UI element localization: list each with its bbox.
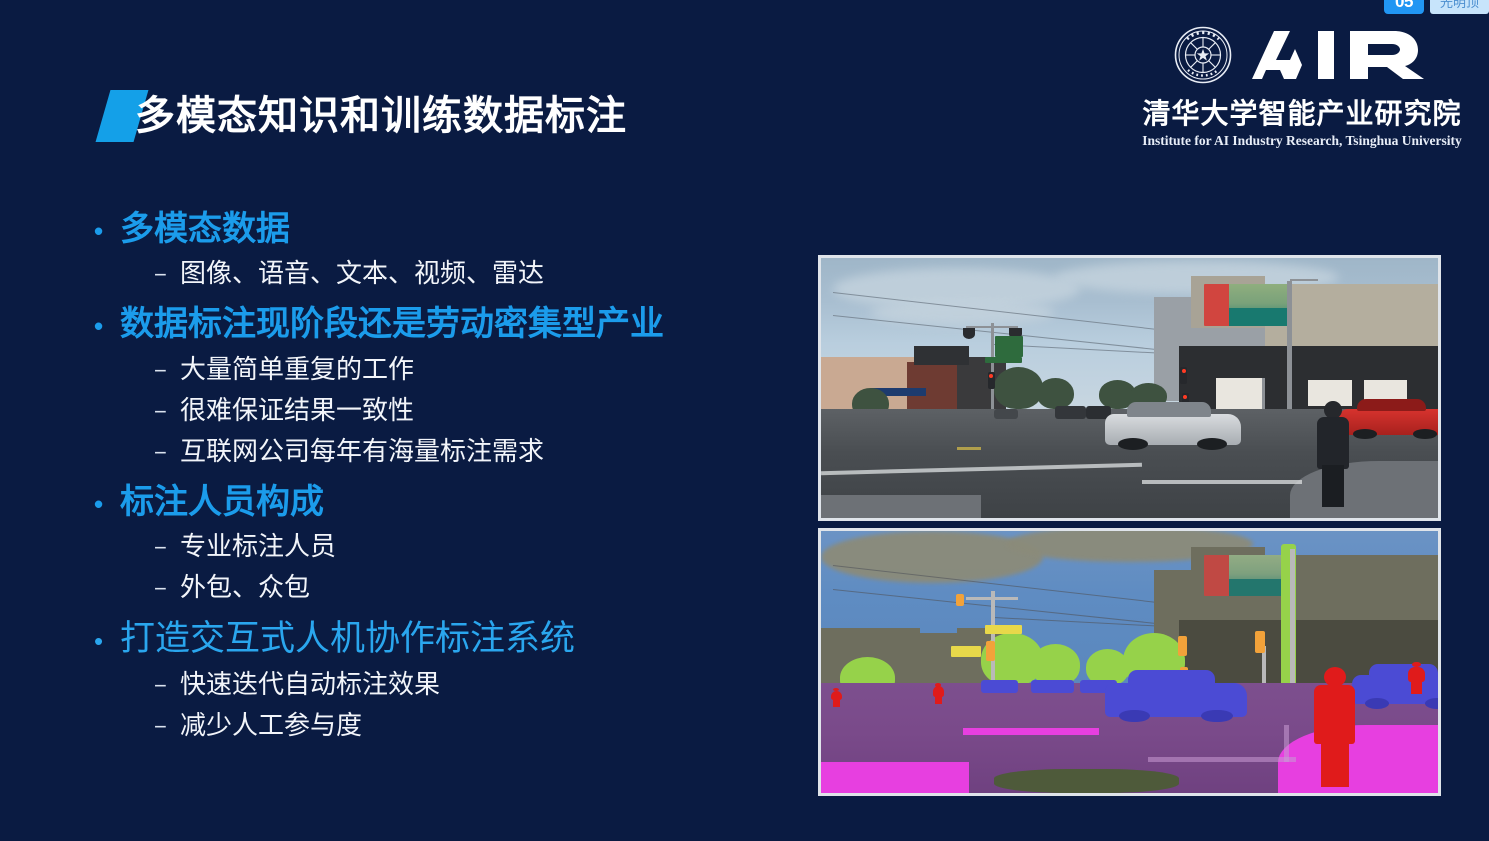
vehicle-main — [1105, 683, 1247, 717]
bullet-subitem: − 专业标注人员 — [154, 526, 794, 567]
car-wheel — [1425, 698, 1441, 709]
sub-marker-icon: − — [154, 710, 180, 745]
bullet-subitem: − 快速迭代自动标注效果 — [154, 664, 794, 705]
bullet-group: • 标注人员构成 − 专业标注人员 − 外包、众包 — [94, 478, 794, 608]
logo-top-row — [1137, 24, 1467, 90]
car-wheel — [1365, 698, 1389, 709]
page-title: 多模态知识和训练数据标注 — [135, 90, 627, 142]
vehicle — [981, 680, 1018, 693]
person-body — [1408, 667, 1424, 683]
person — [932, 683, 944, 704]
car-cabin — [1369, 664, 1438, 677]
pole-arm — [966, 597, 1018, 600]
bullet-group: • 打造交互式人机协作标注系统 − 快速迭代自动标注效果 − 减少人工参与度 — [94, 614, 794, 746]
traffic-light — [956, 594, 964, 606]
bullet-subitem-label: 图像、语音、文本、视频、雷达 — [180, 253, 544, 294]
pedestrian — [1315, 401, 1352, 505]
logo-english-name: Institute for AI Industry Research, Tsin… — [1137, 133, 1467, 149]
bullet-subitem-label: 专业标注人员 — [180, 526, 336, 567]
tsinghua-seal-icon — [1174, 26, 1232, 89]
person-legs — [1321, 740, 1349, 787]
sub-marker-icon: − — [154, 531, 180, 566]
person — [1312, 667, 1358, 785]
car-wheel — [1413, 429, 1437, 439]
lane-marking — [1148, 757, 1296, 762]
window — [1216, 378, 1265, 409]
billboard-left-panel — [1204, 284, 1230, 326]
wall-sign — [914, 346, 970, 364]
car-red — [1339, 409, 1441, 435]
bullet-content: • 多模态数据 − 图像、语音、文本、视频、雷达 • 数据标注现阶段还是劳动密集… — [94, 205, 794, 752]
person-legs — [1411, 681, 1422, 694]
person-legs — [833, 700, 840, 707]
billboard — [1204, 555, 1290, 597]
terrain-patch — [994, 769, 1179, 793]
bullet-heading-label: 数据标注现阶段还是劳动密集型产业 — [120, 300, 664, 348]
tree — [1037, 378, 1074, 409]
street-name-sign — [985, 357, 1022, 364]
bullet-subitem: − 很难保证结果一致性 — [154, 390, 794, 431]
sidewalk-strip — [963, 728, 1099, 736]
traffic-light — [986, 641, 995, 661]
car-wheel — [1201, 710, 1232, 723]
bullet-marker-icon: • — [94, 313, 120, 339]
bullet-heading: • 数据标注现阶段还是劳动密集型产业 — [94, 300, 794, 348]
car-wheel — [1353, 429, 1377, 439]
person — [1407, 662, 1426, 693]
car-silver — [1105, 414, 1241, 445]
pedestrian-legs — [1322, 465, 1344, 507]
scene-raw — [821, 258, 1438, 518]
bullet-heading: • 标注人员构成 — [94, 478, 794, 526]
traffic-light — [1178, 636, 1187, 656]
street-scene-photo — [818, 255, 1441, 521]
distant-car — [1055, 406, 1086, 419]
curb-paint — [957, 447, 982, 450]
bullet-subitem-label: 很难保证结果一致性 — [180, 390, 414, 431]
slide-title-row: 多模态知识和训练数据标注 — [103, 86, 627, 146]
bullet-heading-label: 多模态数据 — [120, 205, 290, 253]
slide-root: 05 光明顶 多模态知识和训练数据标注 — [0, 0, 1489, 841]
bullet-subitem-label: 快速迭代自动标注效果 — [180, 664, 440, 705]
bullet-subitem: − 减少人工参与度 — [154, 705, 794, 746]
bullet-marker-icon: • — [94, 628, 120, 654]
sub-marker-icon: − — [154, 395, 180, 430]
bullet-heading-label: 打造交互式人机协作标注系统 — [120, 614, 575, 664]
vehicle — [1031, 680, 1074, 693]
vegetation — [1031, 644, 1080, 686]
pedestrian-body — [1317, 417, 1350, 469]
car-cabin — [1128, 670, 1216, 686]
car-cabin — [1357, 399, 1426, 411]
scene-segmented — [821, 531, 1438, 793]
billboard-green-panel — [1229, 308, 1289, 325]
bullet-subitem: − 外包、众包 — [154, 567, 794, 608]
bullet-subitem-label: 互联网公司每年有海量标注需求 — [180, 431, 544, 472]
bullet-subitem: − 图像、语音、文本、视频、雷达 — [154, 253, 794, 294]
bullet-heading: • 多模态数据 — [94, 205, 794, 253]
bullet-subitem-label: 外包、众包 — [180, 567, 310, 608]
sub-marker-icon: − — [154, 572, 180, 607]
bullet-marker-icon: • — [94, 218, 120, 244]
sidewalk-left — [821, 495, 981, 518]
street-sign — [995, 336, 1023, 357]
bullet-heading-label: 标注人员构成 — [120, 478, 324, 526]
sub-marker-icon: − — [154, 436, 180, 471]
sidewalk-left — [821, 762, 969, 793]
image-stack — [818, 255, 1441, 796]
segmentation-result-image — [818, 528, 1441, 796]
bullet-group: • 数据标注现阶段还是劳动密集型产业 − 大量简单重复的工作 − 很难保证结果一… — [94, 300, 794, 472]
traffic-light — [1255, 631, 1265, 653]
traffic-light — [1180, 367, 1187, 384]
street-sign — [951, 646, 982, 656]
crosswalk-line — [1142, 480, 1302, 484]
car-cabin — [1127, 402, 1211, 416]
chip-pill-label[interactable]: 光明顶 — [1430, 0, 1489, 14]
person-legs — [935, 696, 942, 704]
sub-marker-icon: − — [154, 354, 180, 389]
top-overlay-chip[interactable]: 05 光明顶 — [1384, 0, 1489, 14]
sub-marker-icon: − — [154, 258, 180, 293]
street-sign — [985, 625, 1022, 634]
sub-marker-icon: − — [154, 669, 180, 704]
air-logo-block: 清华大学智能产业研究院 Institute for AI Industry Re… — [1137, 24, 1467, 149]
pole-arm — [1290, 279, 1318, 281]
billboard — [1204, 284, 1290, 326]
person-body — [1314, 685, 1355, 744]
distant-car — [994, 409, 1019, 419]
person — [830, 688, 842, 706]
air-wordmark — [1246, 27, 1430, 88]
bullet-marker-icon: • — [94, 491, 120, 517]
bullet-subitem-label: 大量简单重复的工作 — [180, 349, 414, 390]
tree — [994, 367, 1043, 409]
lane-marking — [1284, 725, 1289, 762]
bullet-group: • 多模态数据 − 图像、语音、文本、视频、雷达 — [94, 205, 794, 294]
billboard-left-panel — [1204, 555, 1230, 597]
traffic-light — [988, 372, 995, 389]
logo-chinese-name: 清华大学智能产业研究院 — [1137, 92, 1467, 132]
bullet-subitem-label: 减少人工参与度 — [180, 705, 362, 746]
chip-number[interactable]: 05 — [1384, 0, 1424, 14]
bullet-subitem: − 互联网公司每年有海量标注需求 — [154, 431, 794, 472]
vehicle-right — [1352, 675, 1441, 704]
bullet-heading: • 打造交互式人机协作标注系统 — [94, 614, 794, 664]
bullet-subitem: − 大量简单重复的工作 — [154, 349, 794, 390]
lamp-head — [963, 328, 975, 338]
